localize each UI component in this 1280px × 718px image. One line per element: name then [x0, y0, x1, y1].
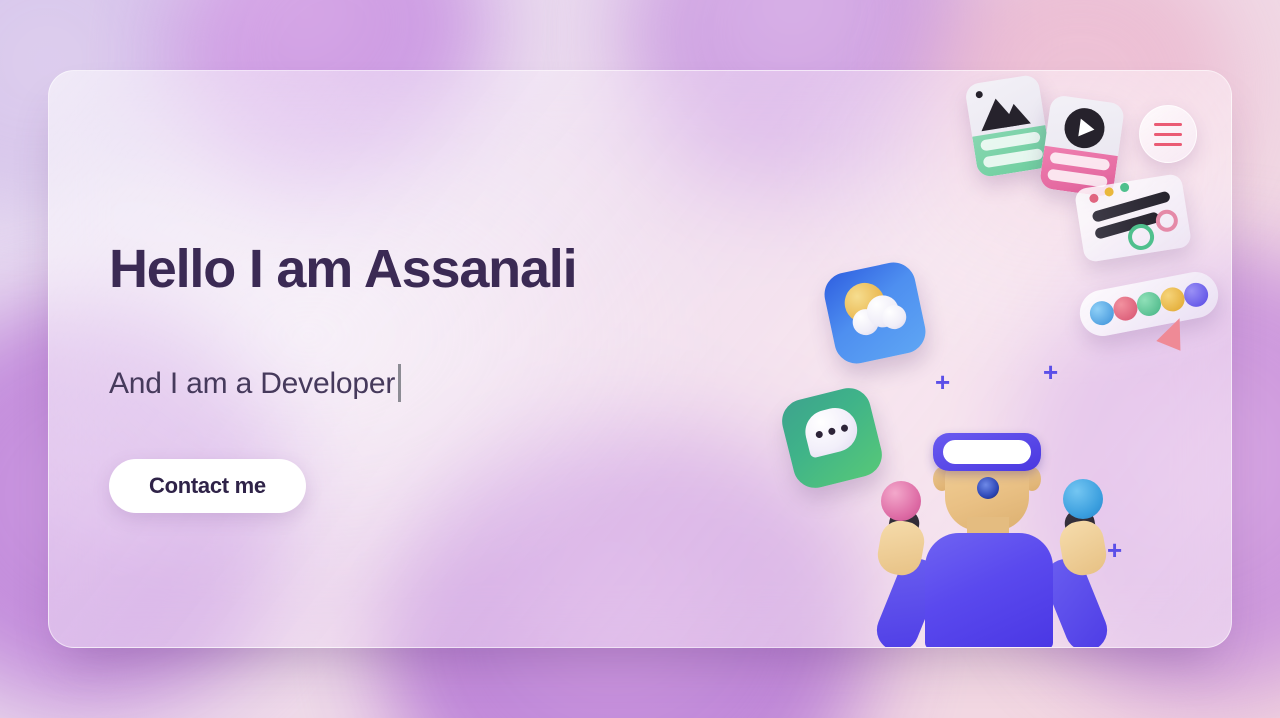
- placeholder-bar: [983, 148, 1044, 168]
- panel-dot: [1104, 187, 1114, 197]
- image-dot-icon: [975, 91, 983, 99]
- plus-icon: +: [935, 369, 950, 395]
- color-palette-icon: [1076, 268, 1222, 340]
- contact-me-button[interactable]: Contact me: [109, 459, 306, 513]
- palette-swatch: [1111, 295, 1139, 323]
- page-title: Hello I am Assanali: [109, 241, 729, 298]
- video-card-icon: [1039, 94, 1125, 197]
- hero-subtitle-text: And I am a Developer: [109, 367, 395, 401]
- vr-visor: [943, 440, 1031, 464]
- palette-swatch: [1135, 290, 1163, 318]
- speech-bubble-icon: [801, 403, 862, 458]
- settings-panel-icon: [1074, 173, 1192, 263]
- hero-subtitle: And I am a Developer: [109, 364, 729, 404]
- panel-ring: [1154, 208, 1179, 233]
- mountain-icon-small: [1000, 102, 1031, 128]
- hero-copy: Hello I am Assanali And I am a Developer…: [109, 241, 729, 513]
- palette-swatch: [1158, 285, 1186, 313]
- video-thumbnail: [1045, 94, 1126, 156]
- typing-cursor: [398, 364, 401, 402]
- character-torso: [925, 533, 1053, 648]
- placeholder-bar: [980, 131, 1041, 151]
- palette-swatch: [1088, 299, 1116, 327]
- controller-ball-right: [1063, 479, 1103, 519]
- image-card-icon: [964, 74, 1052, 178]
- palette-swatch: [1182, 281, 1210, 309]
- hero-card: Hello I am Assanali And I am a Developer…: [48, 70, 1232, 648]
- vr-headset-icon: [933, 433, 1041, 471]
- hero-illustration: + + + +: [749, 71, 1232, 648]
- controller-ball-left: [881, 481, 921, 521]
- panel-dot: [1119, 182, 1129, 192]
- vr-character: [867, 421, 1117, 648]
- panel-dot: [1089, 193, 1099, 203]
- eye-icon: [977, 477, 999, 499]
- weather-app-icon: [820, 258, 929, 367]
- placeholder-bar: [1049, 152, 1110, 171]
- plus-icon: +: [1043, 359, 1058, 385]
- play-triangle-icon: [1078, 119, 1095, 139]
